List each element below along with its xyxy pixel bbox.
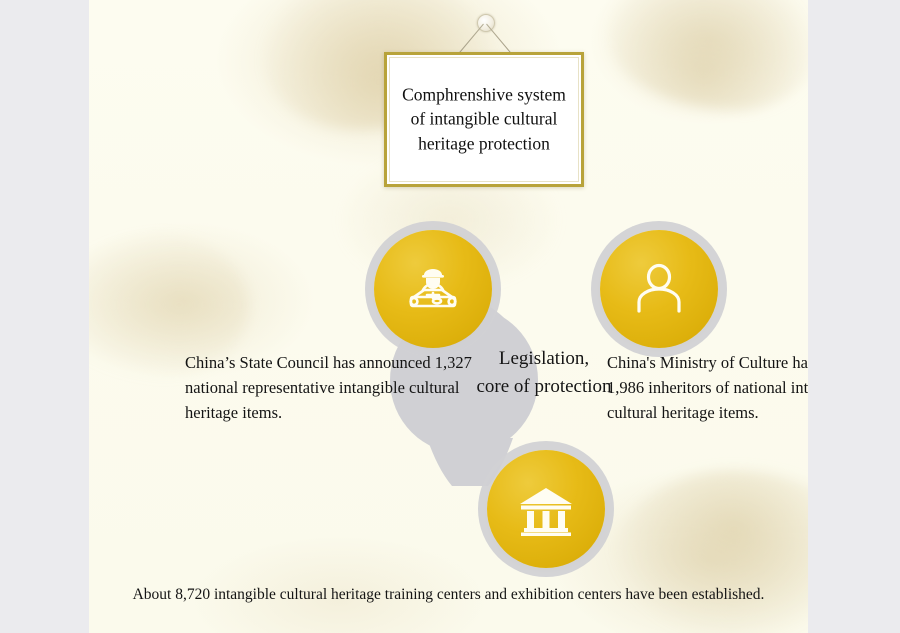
- center-label: Legislation, core of protection: [469, 345, 619, 400]
- paper-background: Comphrenshive system of intangible cultu…: [89, 0, 808, 633]
- text-ministry-of-culture: China's Ministry of Culture has confirme…: [607, 350, 808, 425]
- node-training-centers[interactable]: [487, 450, 605, 568]
- hanging-sign: Comphrenshive system of intangible cultu…: [384, 6, 584, 192]
- person-icon: [629, 259, 689, 319]
- engineer-blueprint-icon: [401, 257, 465, 321]
- node-ministry-of-culture[interactable]: [600, 230, 718, 348]
- page-title: Comphrenshive system of intangible cultu…: [393, 82, 575, 157]
- sign-board: Comphrenshive system of intangible cultu…: [384, 52, 584, 187]
- watercolor-wash-top-right: [609, 0, 808, 110]
- text-training-centers: About 8,720 intangible cultural heritage…: [89, 586, 808, 604]
- node-state-council[interactable]: [374, 230, 492, 348]
- text-state-council: China’s State Council has announced 1,32…: [185, 350, 475, 425]
- infographic-canvas: Comphrenshive system of intangible cultu…: [0, 0, 900, 633]
- classical-building-icon: [515, 478, 577, 540]
